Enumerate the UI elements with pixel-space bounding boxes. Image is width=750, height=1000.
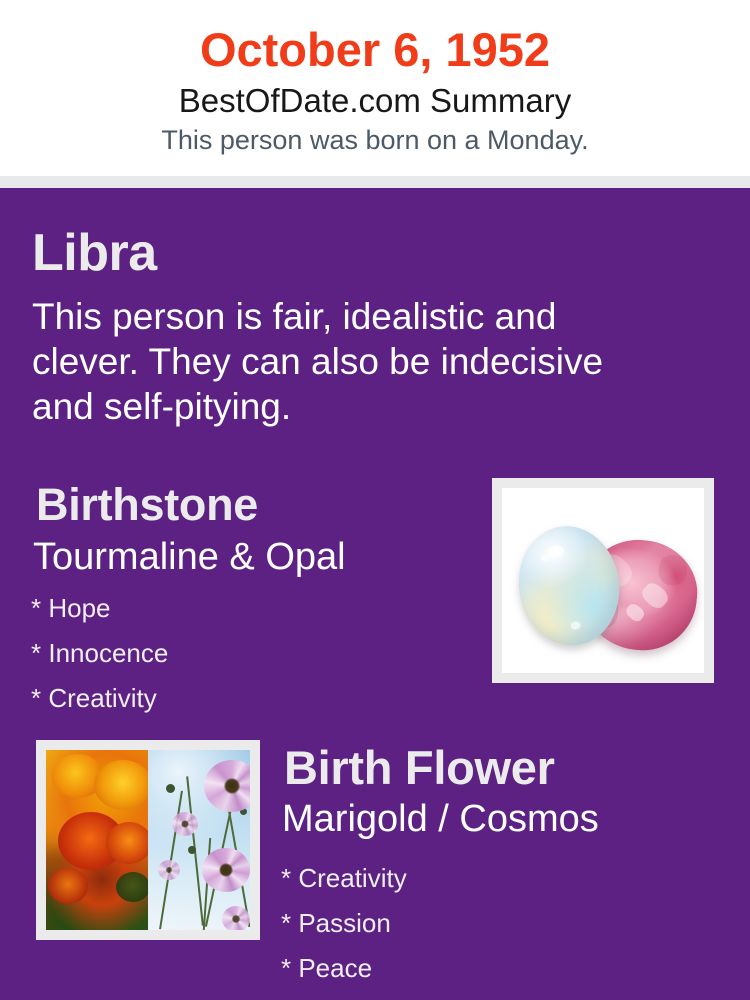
site-name: BestOfDate.com Summary [0, 80, 750, 122]
list-item: * Passion [281, 901, 407, 946]
zodiac-sign-title: Libra [32, 222, 157, 284]
list-item: * Creativity [281, 856, 407, 901]
birthstone-trait-list: * Hope * Innocence * Creativity [31, 586, 168, 721]
birthstone-image-inner [502, 488, 704, 673]
zodiac-description: This person is fair, idealistic and clev… [32, 294, 622, 429]
birth-flower-title: Birth Flower [284, 740, 555, 796]
birthstone-image [492, 478, 714, 683]
marigold-photo-icon [46, 750, 148, 930]
header-divider [0, 176, 750, 188]
list-item: * Innocence [31, 631, 168, 676]
list-item: * Creativity [31, 676, 168, 721]
birth-flower-image [36, 740, 260, 940]
list-item: * Peace [281, 946, 407, 991]
summary-card: October 6, 1952 BestOfDate.com Summary T… [0, 0, 750, 1000]
born-weekday-text: This person was born on a Monday. [0, 122, 750, 158]
list-item: * Hope [31, 586, 168, 631]
page-title: October 6, 1952 [0, 20, 750, 80]
card-header: October 6, 1952 BestOfDate.com Summary T… [0, 0, 750, 176]
birthstone-title: Birthstone [36, 478, 258, 532]
birth-flower-image-inner [46, 750, 250, 930]
birth-flower-trait-list: * Creativity * Passion * Peace [281, 856, 407, 991]
birthstone-names: Tourmaline & Opal [33, 534, 346, 580]
birth-flower-names: Marigold / Cosmos [282, 796, 599, 842]
cosmos-photo-icon [148, 750, 250, 930]
